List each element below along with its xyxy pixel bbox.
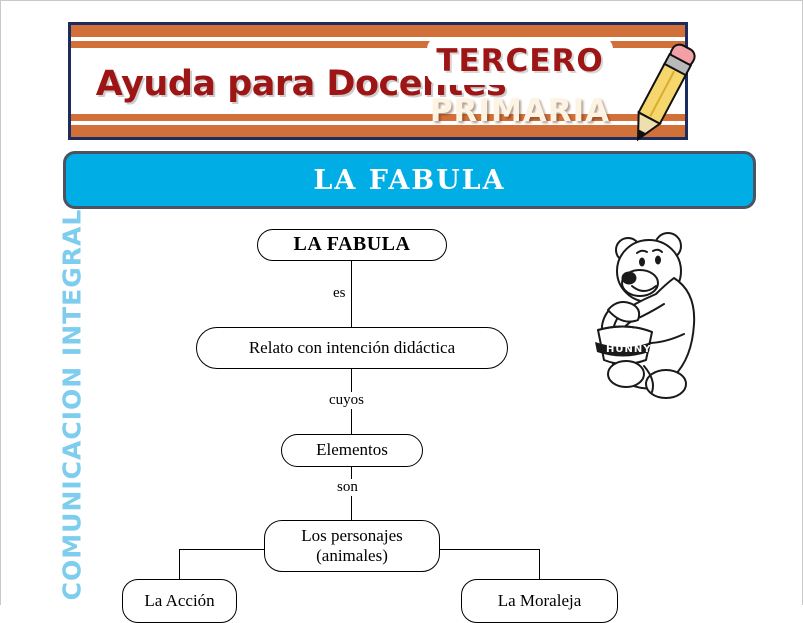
header-banner: Ayuda para Docentes TERCERO PRIMARIA [68,22,688,140]
edge-characters-to-action-vertical [179,549,180,580]
edge-characters-to-moral-vertical [539,549,540,580]
node-root: LA FABULA [257,229,447,261]
edge-characters-to-action-horizontal [179,549,265,550]
edge-label-son: son [333,479,362,496]
edge-root-to-definition [351,261,352,327]
node-characters-line2: (animales) [316,546,388,566]
worksheet-title: LA FABULA [313,165,505,196]
edge-label-es: es [329,285,350,302]
worksheet-title-bar: LA FABULA [63,151,756,209]
pencil-icon [623,33,701,151]
node-elements: Elementos [281,434,423,467]
edge-characters-to-moral-horizontal [439,549,540,550]
concept-map: es cuyos son LA FABULA Relato con intenc… [0,215,803,605]
node-moral: La Moraleja [461,579,618,623]
grade-badge-label: TERCERO [436,43,603,79]
banner-inner: Ayuda para Docentes TERCERO PRIMARIA [71,25,685,137]
node-characters-line1: Los personajes [301,526,403,546]
node-action: La Acción [122,579,237,623]
level-label: PRIMARIA [425,89,615,133]
node-definition: Relato con intención didáctica [196,327,508,369]
node-characters: Los personajes (animales) [264,520,440,572]
grade-badge: TERCERO [427,37,613,85]
edge-label-cuyos: cuyos [325,392,368,409]
